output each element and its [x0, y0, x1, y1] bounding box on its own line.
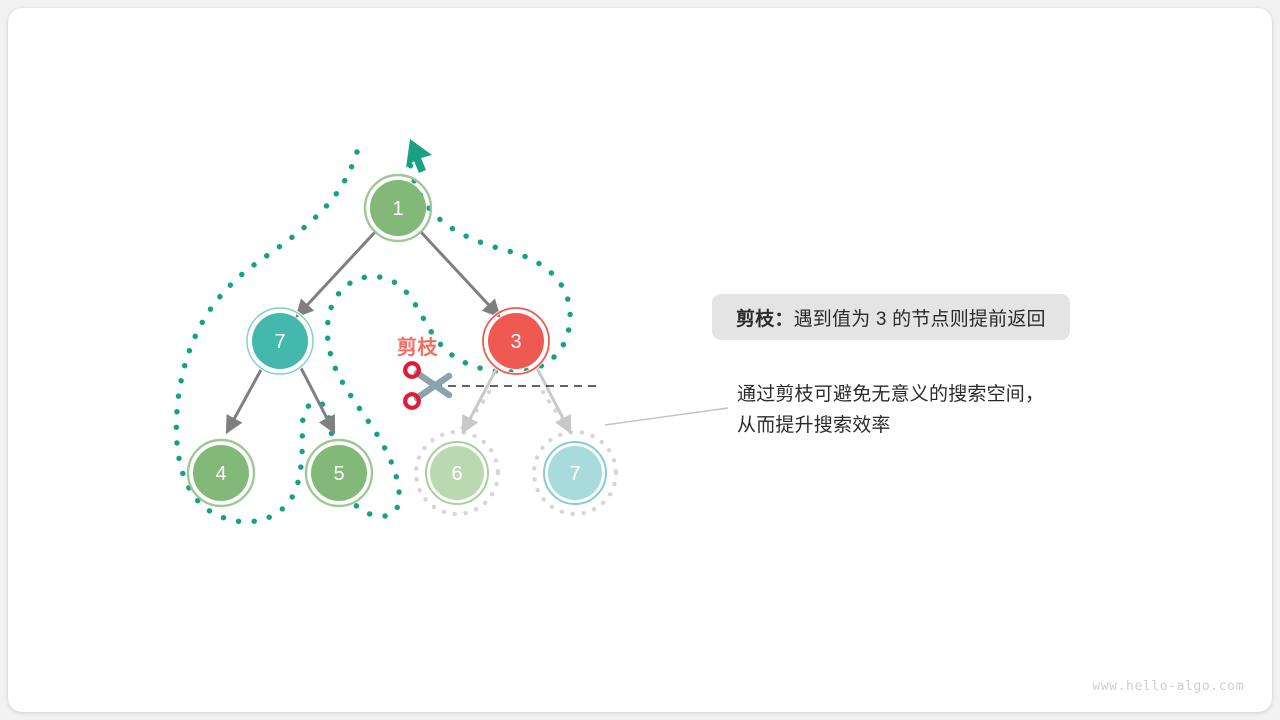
tree-node-5-label: 5	[333, 463, 344, 485]
edge-7-4	[227, 368, 262, 432]
prune-badge: 剪枝： 遇到值为 3 的节点则提前返回	[712, 294, 1070, 340]
edge-1-3	[420, 231, 499, 316]
tree-node-7-right-pruned[interactable]: 7	[544, 442, 606, 504]
tree-node-6-label: 6	[451, 463, 462, 485]
prune-badge-text: 遇到值为 3 的节点则提前返回	[794, 304, 1046, 331]
scissors-icon	[405, 363, 449, 408]
tree-node-4[interactable]: 4	[188, 440, 254, 506]
tree-node-7-left-label: 7	[274, 331, 285, 353]
prune-note: 通过剪枝可避免无意义的搜索空间， 从而提升搜索效率	[737, 379, 1044, 441]
tree-node-6-pruned[interactable]: 6	[426, 442, 488, 504]
edge-3-7	[536, 366, 570, 432]
tree-node-7-left[interactable]: 7	[247, 308, 313, 374]
cursor-arrow-icon	[406, 139, 432, 173]
edge-3-6	[463, 366, 498, 432]
tree-node-3[interactable]: 3	[483, 308, 549, 374]
prune-badge-label: 剪枝：	[736, 304, 794, 331]
tree-node-3-label: 3	[510, 331, 521, 353]
tree-node-7-right-label: 7	[569, 463, 580, 485]
prune-note-line-1: 通过剪枝可避免无意义的搜索空间，	[737, 379, 1044, 410]
watermark: www.hello-algo.com	[1092, 679, 1244, 694]
prune-note-line-2: 从而提升搜索效率	[737, 410, 1044, 441]
diagram-stage: 1 7 3 4 5	[0, 0, 1280, 720]
edge-1-7	[297, 231, 376, 316]
tree-node-5[interactable]: 5	[306, 440, 372, 506]
tree-diagram: 1 7 3 4 5	[0, 0, 1280, 720]
tree-node-1[interactable]: 1	[365, 175, 431, 241]
prune-label: 剪枝	[397, 331, 438, 360]
note-leader-line	[605, 408, 728, 425]
tree-node-4-label: 4	[215, 463, 226, 485]
tree-node-1-label: 1	[392, 198, 403, 220]
edge-7-5	[300, 366, 334, 432]
